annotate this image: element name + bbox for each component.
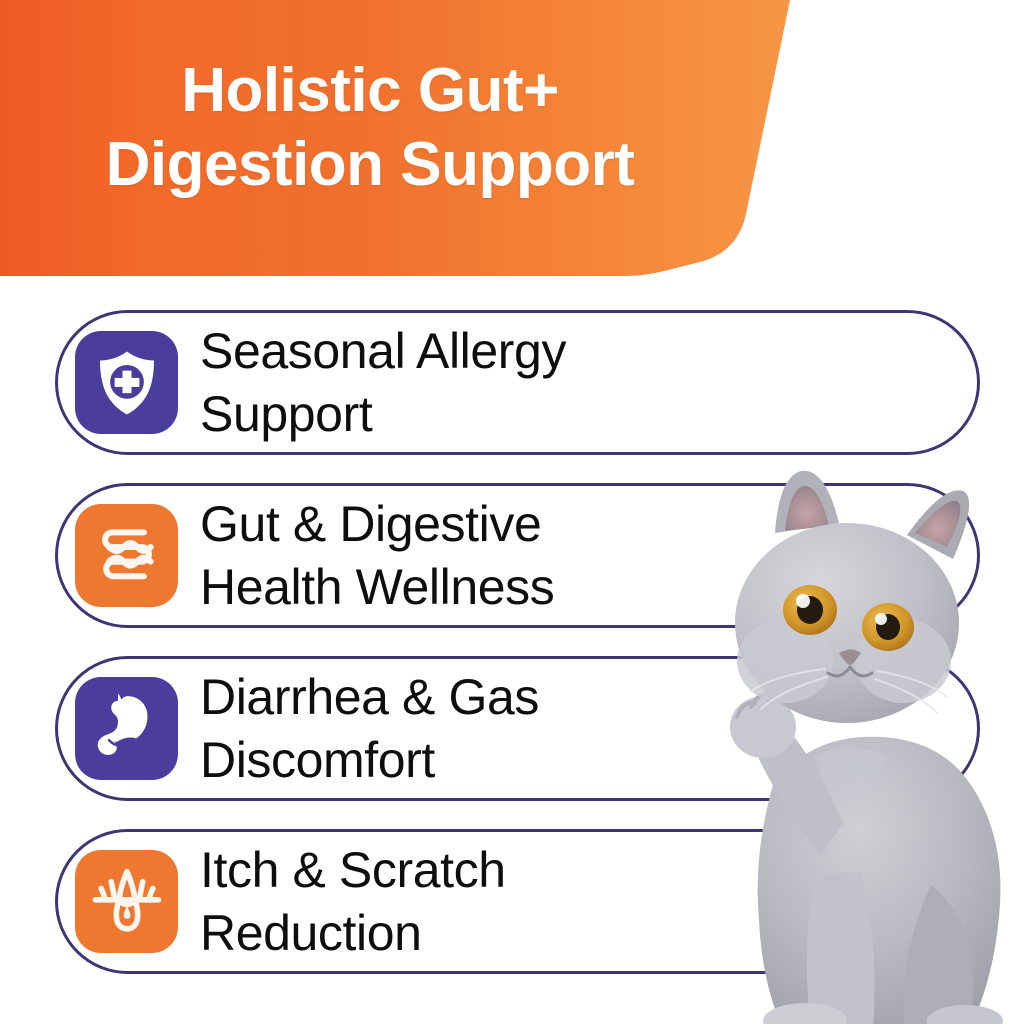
feature-card-seasonal-allergy[interactable]: Seasonal Allergy Support — [55, 310, 980, 455]
feature-card-label: Itch & Scratch Reduction — [200, 839, 506, 965]
feature-card-label: Seasonal Allergy Support — [200, 320, 566, 446]
feature-card-diarrhea-gas[interactable]: Diarrhea & Gas Discomfort — [55, 656, 980, 801]
header-banner: Holistic Gut+ Digestion Support — [0, 0, 790, 278]
feature-card-itch-scratch[interactable]: Itch & Scratch Reduction — [55, 829, 980, 974]
feature-card-label: Gut & Digestive Health Wellness — [200, 493, 554, 619]
feature-card-list: Seasonal Allergy Support Gut & Digestive… — [55, 310, 980, 1002]
intestine-icon — [75, 504, 178, 607]
feature-card-label: Diarrhea & Gas Discomfort — [200, 666, 539, 792]
shield-plus-icon — [75, 331, 178, 434]
product-infographic: Holistic Gut+ Digestion Support Seasonal… — [0, 0, 1024, 1024]
feature-card-gut-digestive[interactable]: Gut & Digestive Health Wellness — [55, 483, 980, 628]
stomach-icon — [75, 677, 178, 780]
hair-follicle-icon — [75, 850, 178, 953]
page-title: Holistic Gut+ Digestion Support — [0, 54, 740, 202]
